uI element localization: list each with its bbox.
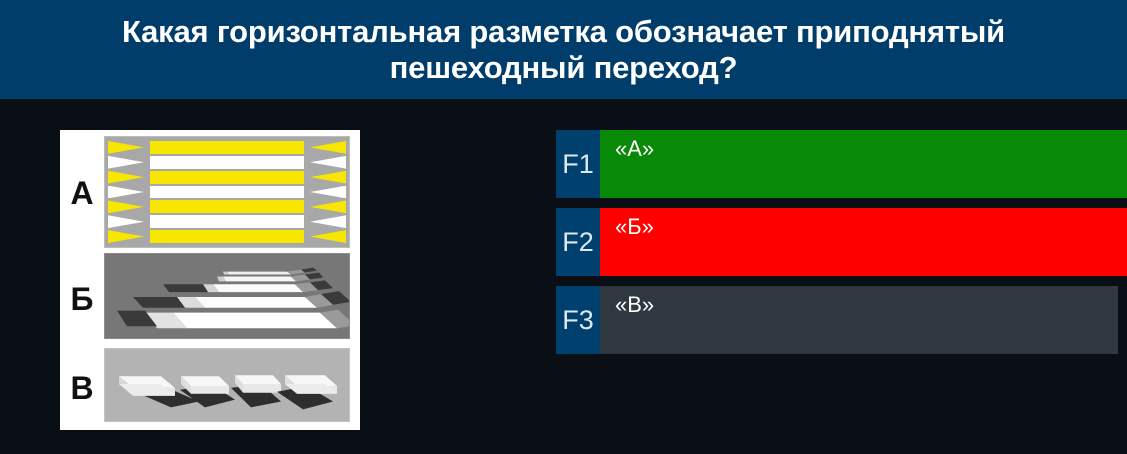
question-bar: Какая горизонтальная разметка обозначает… [0,0,1127,99]
triangle-icon [310,215,346,228]
left-triangle-column [108,141,144,243]
raised-3d-blocks-crossing-icon [104,348,350,422]
stripe [150,230,304,243]
variant-row-a: А [60,134,360,252]
variant-diagram-a [104,134,360,252]
stripe [150,171,304,184]
triangle-icon [310,230,346,243]
stripe [150,215,304,228]
answer-list: F1 «А» F2 «Б» F3 «В» [556,130,1127,354]
answer-button-f3[interactable]: F3 «В» [556,286,1118,354]
variant-row-c: В [60,348,360,428]
answer-label-f2: «Б» [600,208,1127,276]
triangle-icon [108,186,144,199]
variant-label-c: В [60,370,104,407]
stripe-column [150,141,304,243]
key-badge-f2[interactable]: F2 [556,208,600,276]
variant-label-a: А [60,175,104,212]
stripe [150,141,304,154]
stripe [150,156,304,169]
variant-label-b: Б [60,281,104,318]
triangle-icon [108,200,144,213]
variant-diagram-c [104,348,360,428]
answer-label-f1: «А» [600,130,1127,198]
answer-label-f3: «В» [600,286,1118,354]
answer-button-f2[interactable]: F2 «Б» [556,208,1127,276]
right-triangle-column [310,141,346,243]
key-badge-f3[interactable]: F3 [556,286,600,354]
question-text: Какая горизонтальная разметка обозначает… [122,14,1005,85]
triangle-icon [310,171,346,184]
variant-diagram-b [104,253,360,345]
triangle-icon [108,141,144,154]
triangle-icon [310,200,346,213]
perspective-zebra-crossing-icon [104,253,350,339]
triangle-icon [310,186,346,199]
triangle-icon [108,156,144,169]
triangle-icon [310,141,346,154]
yellow-white-striped-marking-icon [104,136,350,248]
illustration-panel: А [60,130,360,430]
stripe [150,186,304,199]
triangle-icon [108,171,144,184]
triangle-icon [108,215,144,228]
quiz-screen: Какая горизонтальная разметка обозначает… [0,0,1127,454]
answer-button-f1[interactable]: F1 «А» [556,130,1127,198]
triangle-icon [310,156,346,169]
stripe [150,200,304,213]
key-badge-f1[interactable]: F1 [556,130,600,198]
triangle-icon [108,230,144,243]
variant-row-b: Б [60,253,360,345]
